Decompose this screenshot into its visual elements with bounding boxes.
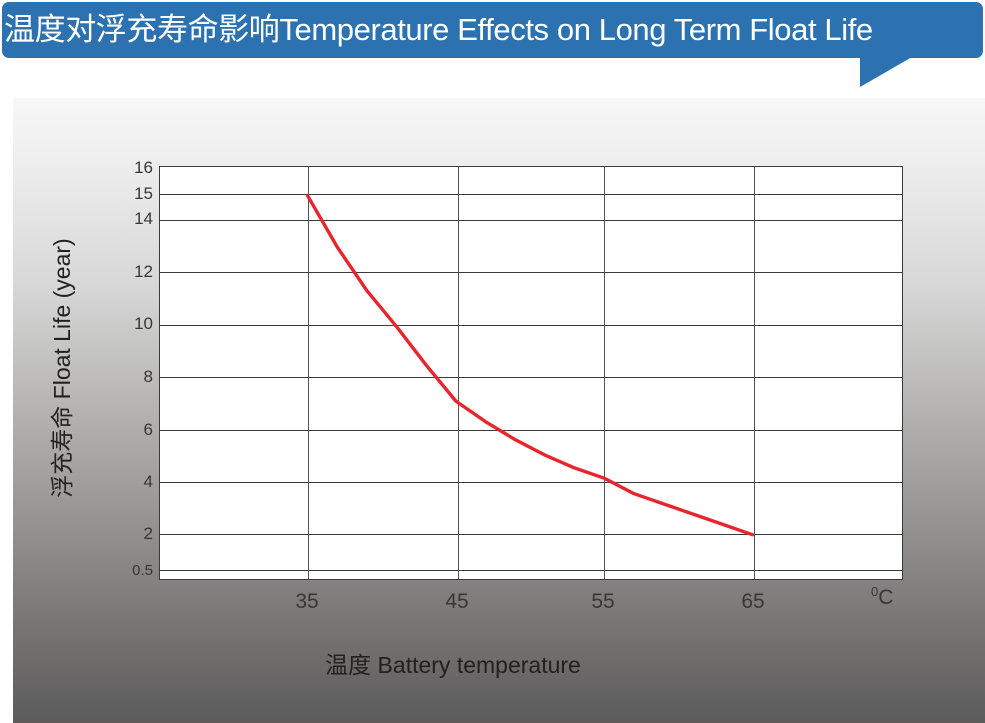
x-tick-label: 65	[741, 590, 764, 614]
x-tick-label: 35	[295, 590, 318, 614]
curve-polyline	[308, 196, 753, 535]
x-tick-label: 55	[591, 590, 614, 614]
plot-area	[159, 166, 903, 580]
title-banner: 温度对浮充寿命影响Temperature Effects on Long Ter…	[2, 2, 983, 86]
x-tick-label: 45	[445, 590, 468, 614]
banner-body: 温度对浮充寿命影响Temperature Effects on Long Ter…	[2, 2, 983, 58]
banner-title-text: 温度对浮充寿命影响Temperature Effects on Long Ter…	[2, 13, 873, 47]
chart-panel: 浮充寿命 Float Life (year) 16 15 14 12 10 8 …	[13, 98, 985, 723]
celsius-letter: C	[878, 586, 893, 609]
x-axis-unit-label: 0C	[871, 584, 893, 610]
x-axis-title: 温度 Battery temperature	[13, 646, 893, 680]
float-life-curve	[160, 167, 902, 579]
speech-bubble-tail-icon	[860, 57, 912, 87]
